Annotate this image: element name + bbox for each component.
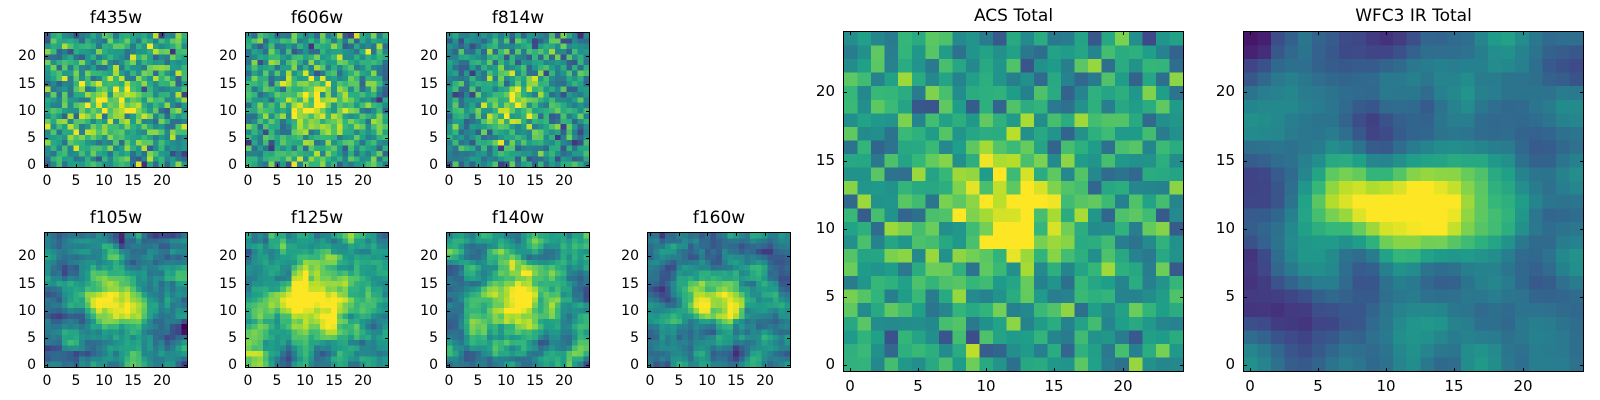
panel-wfc3-ir-total: WFC3 IR Total0510152005101520 xyxy=(1243,31,1584,372)
xtick-top-f105w-0 xyxy=(47,232,48,236)
xtick-top-f435w-2 xyxy=(104,32,105,36)
ytick-wfc3-ir-total-4 xyxy=(1243,92,1247,93)
xtick-f125w-2 xyxy=(305,364,306,368)
ytick-f125w-0 xyxy=(245,365,249,366)
xtick-f125w-4 xyxy=(363,364,364,368)
xticklabel-wfc3-ir-total-3: 15 xyxy=(1434,379,1474,394)
ytick-right-f814w-0 xyxy=(586,165,590,166)
heatmap-wfc3-ir-total xyxy=(1244,32,1583,371)
xticklabel-f125w-4: 20 xyxy=(343,374,383,388)
ytick-right-acs-total-0 xyxy=(1180,365,1184,366)
ytick-right-f140w-0 xyxy=(586,365,590,366)
yticklabel-f814w-4: 20 xyxy=(394,49,438,63)
ytick-right-f435w-2 xyxy=(184,111,188,112)
ytick-f814w-1 xyxy=(446,138,450,139)
xticklabel-f435w-4: 20 xyxy=(142,174,182,188)
xticklabel-acs-total-0: 0 xyxy=(830,379,870,394)
heatmap-f140w xyxy=(447,233,589,367)
axes-f125w xyxy=(245,232,389,368)
ytick-wfc3-ir-total-3 xyxy=(1243,161,1247,162)
axes-acs-total xyxy=(843,31,1184,372)
xticklabel-wfc3-ir-total-1: 5 xyxy=(1298,379,1338,394)
ytick-acs-total-1 xyxy=(843,297,847,298)
yticklabel-f105w-3: 15 xyxy=(0,277,36,291)
xticklabel-wfc3-ir-total-0: 0 xyxy=(1230,379,1270,394)
yticklabel-f606w-2: 10 xyxy=(193,104,237,118)
yticklabel-f125w-4: 20 xyxy=(193,249,237,263)
ytick-right-f125w-2 xyxy=(385,311,389,312)
ytick-f606w-1 xyxy=(245,138,249,139)
yticklabel-f140w-2: 10 xyxy=(394,304,438,318)
ytick-f105w-1 xyxy=(44,338,48,339)
yticklabel-f140w-4: 20 xyxy=(394,249,438,263)
xtick-top-f606w-2 xyxy=(305,32,306,36)
xtick-top-f435w-3 xyxy=(133,32,134,36)
ytick-right-f140w-2 xyxy=(586,311,590,312)
ytick-f160w-3 xyxy=(647,284,651,285)
yticklabel-f606w-0: 0 xyxy=(193,158,237,172)
xtick-wfc3-ir-total-0 xyxy=(1250,368,1251,372)
yticklabel-f125w-3: 15 xyxy=(193,277,237,291)
xtick-top-f105w-1 xyxy=(76,232,77,236)
xtick-acs-total-1 xyxy=(918,368,919,372)
xtick-top-f160w-0 xyxy=(650,232,651,236)
xticklabel-f105w-4: 20 xyxy=(142,374,182,388)
ytick-right-f160w-1 xyxy=(787,338,791,339)
xticklabel-f160w-4: 20 xyxy=(745,374,785,388)
heatmap-f435w xyxy=(45,33,187,167)
ytick-f125w-4 xyxy=(245,256,249,257)
xtick-top-f606w-1 xyxy=(277,32,278,36)
xtick-top-f814w-1 xyxy=(478,32,479,36)
ytick-right-f125w-0 xyxy=(385,365,389,366)
ytick-f606w-0 xyxy=(245,165,249,166)
heatmap-f814w xyxy=(447,33,589,167)
panel-f435w: f435w0510152005101520 xyxy=(44,32,188,168)
ytick-f160w-4 xyxy=(647,256,651,257)
xtick-top-acs-total-0 xyxy=(850,31,851,35)
yticklabel-wfc3-ir-total-0: 0 xyxy=(1191,357,1235,372)
panel-f140w: f140w0510152005101520 xyxy=(446,232,590,368)
xtick-wfc3-ir-total-4 xyxy=(1523,368,1524,372)
xtick-f140w-3 xyxy=(535,364,536,368)
xtick-f606w-1 xyxy=(277,164,278,168)
panel-title-f160w: f160w xyxy=(647,210,791,227)
xtick-f435w-4 xyxy=(162,164,163,168)
xtick-top-f606w-3 xyxy=(334,32,335,36)
axes-f160w xyxy=(647,232,791,368)
xtick-top-f140w-2 xyxy=(506,232,507,236)
yticklabel-f105w-0: 0 xyxy=(0,358,36,372)
xtick-f105w-3 xyxy=(133,364,134,368)
ytick-f814w-0 xyxy=(446,165,450,166)
panel-title-f814w: f814w xyxy=(446,10,590,27)
xtick-f140w-1 xyxy=(478,364,479,368)
ytick-wfc3-ir-total-2 xyxy=(1243,229,1247,230)
ytick-right-f125w-3 xyxy=(385,284,389,285)
xtick-top-f160w-3 xyxy=(736,232,737,236)
yticklabel-wfc3-ir-total-2: 10 xyxy=(1191,221,1235,236)
yticklabel-wfc3-ir-total-3: 15 xyxy=(1191,153,1235,168)
xtick-acs-total-0 xyxy=(850,368,851,372)
yticklabel-f160w-1: 5 xyxy=(595,331,639,345)
xtick-top-f125w-4 xyxy=(363,232,364,236)
xtick-top-f140w-3 xyxy=(535,232,536,236)
yticklabel-f105w-2: 10 xyxy=(0,304,36,318)
ytick-right-f606w-2 xyxy=(385,111,389,112)
ytick-right-f814w-3 xyxy=(586,84,590,85)
ytick-f435w-4 xyxy=(44,56,48,57)
xtick-f160w-4 xyxy=(765,364,766,368)
axes-wfc3-ir-total xyxy=(1243,31,1584,372)
ytick-right-f814w-2 xyxy=(586,111,590,112)
yticklabel-wfc3-ir-total-1: 5 xyxy=(1191,289,1235,304)
xticklabel-wfc3-ir-total-2: 10 xyxy=(1366,379,1406,394)
xtick-f105w-4 xyxy=(162,364,163,368)
ytick-acs-total-3 xyxy=(843,161,847,162)
ytick-f125w-3 xyxy=(245,284,249,285)
ytick-f105w-2 xyxy=(44,311,48,312)
xtick-f160w-3 xyxy=(736,364,737,368)
xtick-top-f140w-1 xyxy=(478,232,479,236)
xticklabel-acs-total-2: 10 xyxy=(966,379,1006,394)
yticklabel-f160w-0: 0 xyxy=(595,358,639,372)
ytick-right-f140w-1 xyxy=(586,338,590,339)
ytick-f606w-3 xyxy=(245,84,249,85)
xtick-top-acs-total-2 xyxy=(986,31,987,35)
ytick-right-f435w-1 xyxy=(184,138,188,139)
xtick-top-f160w-4 xyxy=(765,232,766,236)
ytick-right-f814w-1 xyxy=(586,138,590,139)
ytick-right-wfc3-ir-total-3 xyxy=(1580,161,1584,162)
ytick-right-f125w-4 xyxy=(385,256,389,257)
ytick-f105w-0 xyxy=(44,365,48,366)
ytick-right-f105w-0 xyxy=(184,365,188,366)
xtick-f140w-2 xyxy=(506,364,507,368)
xtick-acs-total-4 xyxy=(1123,368,1124,372)
yticklabel-f125w-1: 5 xyxy=(193,331,237,345)
xticklabel-acs-total-1: 5 xyxy=(898,379,938,394)
ytick-right-acs-total-3 xyxy=(1180,161,1184,162)
xtick-f435w-1 xyxy=(76,164,77,168)
yticklabel-f160w-4: 20 xyxy=(595,249,639,263)
heatmap-f125w xyxy=(246,233,388,367)
ytick-right-f105w-4 xyxy=(184,256,188,257)
yticklabel-f435w-3: 15 xyxy=(0,77,36,91)
xtick-top-f160w-2 xyxy=(707,232,708,236)
xtick-top-f125w-0 xyxy=(248,232,249,236)
xtick-top-f606w-0 xyxy=(248,32,249,36)
ytick-right-f105w-3 xyxy=(184,284,188,285)
xtick-top-wfc3-ir-total-2 xyxy=(1386,31,1387,35)
panel-title-f606w: f606w xyxy=(245,10,389,27)
xtick-f125w-3 xyxy=(334,364,335,368)
panel-f160w: f160w0510152005101520 xyxy=(647,232,791,368)
xtick-top-f105w-3 xyxy=(133,232,134,236)
xtick-wfc3-ir-total-3 xyxy=(1454,368,1455,372)
panel-acs-total: ACS Total0510152005101520 xyxy=(843,31,1184,372)
ytick-right-acs-total-2 xyxy=(1180,229,1184,230)
panel-title-wfc3-ir-total: WFC3 IR Total xyxy=(1243,8,1584,25)
heatmap-f160w xyxy=(648,233,790,367)
ytick-right-f606w-3 xyxy=(385,84,389,85)
xtick-f606w-4 xyxy=(363,164,364,168)
xtick-top-f160w-1 xyxy=(679,232,680,236)
panel-title-f435w: f435w xyxy=(44,10,188,27)
ytick-right-f160w-3 xyxy=(787,284,791,285)
ytick-f140w-3 xyxy=(446,284,450,285)
panel-title-f140w: f140w xyxy=(446,210,590,227)
xtick-top-f140w-4 xyxy=(564,232,565,236)
xtick-top-f125w-2 xyxy=(305,232,306,236)
ytick-f140w-4 xyxy=(446,256,450,257)
xticklabel-f606w-4: 20 xyxy=(343,174,383,188)
xtick-f125w-1 xyxy=(277,364,278,368)
yticklabel-f606w-3: 15 xyxy=(193,77,237,91)
ytick-right-f105w-2 xyxy=(184,311,188,312)
xtick-top-f125w-3 xyxy=(334,232,335,236)
heatmap-f105w xyxy=(45,233,187,367)
xtick-top-f814w-0 xyxy=(449,32,450,36)
xtick-wfc3-ir-total-2 xyxy=(1386,368,1387,372)
xtick-top-wfc3-ir-total-4 xyxy=(1523,31,1524,35)
xtick-wfc3-ir-total-1 xyxy=(1318,368,1319,372)
ytick-right-wfc3-ir-total-1 xyxy=(1580,297,1584,298)
ytick-right-f105w-1 xyxy=(184,338,188,339)
ytick-right-f606w-4 xyxy=(385,56,389,57)
xticklabel-f814w-4: 20 xyxy=(544,174,584,188)
yticklabel-f435w-2: 10 xyxy=(0,104,36,118)
ytick-f606w-2 xyxy=(245,111,249,112)
xtick-top-f814w-3 xyxy=(535,32,536,36)
ytick-f140w-2 xyxy=(446,311,450,312)
ytick-f814w-4 xyxy=(446,56,450,57)
ytick-f105w-3 xyxy=(44,284,48,285)
yticklabel-wfc3-ir-total-4: 20 xyxy=(1191,84,1235,99)
xtick-f105w-2 xyxy=(104,364,105,368)
ytick-f814w-2 xyxy=(446,111,450,112)
xtick-f160w-1 xyxy=(679,364,680,368)
ytick-right-f160w-4 xyxy=(787,256,791,257)
yticklabel-f140w-1: 5 xyxy=(394,331,438,345)
axes-f140w xyxy=(446,232,590,368)
panel-f606w: f606w0510152005101520 xyxy=(245,32,389,168)
xtick-f814w-2 xyxy=(506,164,507,168)
axes-f105w xyxy=(44,232,188,368)
xtick-acs-total-2 xyxy=(986,368,987,372)
yticklabel-f606w-1: 5 xyxy=(193,131,237,145)
ytick-acs-total-0 xyxy=(843,365,847,366)
ytick-f606w-4 xyxy=(245,56,249,57)
yticklabel-f435w-1: 5 xyxy=(0,131,36,145)
panel-title-f125w: f125w xyxy=(245,210,389,227)
ytick-f435w-0 xyxy=(44,165,48,166)
xtick-acs-total-3 xyxy=(1054,368,1055,372)
xtick-top-f606w-4 xyxy=(363,32,364,36)
xtick-f814w-1 xyxy=(478,164,479,168)
xtick-top-acs-total-4 xyxy=(1123,31,1124,35)
xtick-f435w-3 xyxy=(133,164,134,168)
xtick-f814w-3 xyxy=(535,164,536,168)
yticklabel-f814w-0: 0 xyxy=(394,158,438,172)
ytick-right-wfc3-ir-total-4 xyxy=(1580,92,1584,93)
panel-f105w: f105w0510152005101520 xyxy=(44,232,188,368)
axes-f606w xyxy=(245,32,389,168)
figure-canvas: f435w0510152005101520f606w05101520051015… xyxy=(0,0,1600,400)
yticklabel-f606w-4: 20 xyxy=(193,49,237,63)
ytick-right-f606w-1 xyxy=(385,138,389,139)
ytick-right-acs-total-4 xyxy=(1180,92,1184,93)
xtick-top-f125w-1 xyxy=(277,232,278,236)
xticklabel-acs-total-3: 15 xyxy=(1034,379,1074,394)
ytick-f160w-1 xyxy=(647,338,651,339)
xtick-f105w-1 xyxy=(76,364,77,368)
ytick-acs-total-4 xyxy=(843,92,847,93)
yticklabel-f160w-2: 10 xyxy=(595,304,639,318)
ytick-right-f435w-4 xyxy=(184,56,188,57)
xtick-f140w-4 xyxy=(564,364,565,368)
yticklabel-f435w-4: 20 xyxy=(0,49,36,63)
ytick-f814w-3 xyxy=(446,84,450,85)
xtick-top-f435w-4 xyxy=(162,32,163,36)
yticklabel-f140w-0: 0 xyxy=(394,358,438,372)
ytick-right-f606w-0 xyxy=(385,165,389,166)
xtick-top-f435w-1 xyxy=(76,32,77,36)
ytick-f160w-0 xyxy=(647,365,651,366)
ytick-right-f435w-3 xyxy=(184,84,188,85)
yticklabel-f814w-3: 15 xyxy=(394,77,438,91)
ytick-wfc3-ir-total-0 xyxy=(1243,365,1247,366)
xtick-f435w-2 xyxy=(104,164,105,168)
xtick-top-f814w-4 xyxy=(564,32,565,36)
ytick-f125w-1 xyxy=(245,338,249,339)
axes-f814w xyxy=(446,32,590,168)
yticklabel-f814w-2: 10 xyxy=(394,104,438,118)
yticklabel-f105w-4: 20 xyxy=(0,249,36,263)
panel-title-acs-total: ACS Total xyxy=(843,8,1184,25)
ytick-right-f435w-0 xyxy=(184,165,188,166)
xtick-top-wfc3-ir-total-3 xyxy=(1454,31,1455,35)
ytick-right-wfc3-ir-total-0 xyxy=(1580,365,1584,366)
ytick-right-f160w-2 xyxy=(787,311,791,312)
xticklabel-acs-total-4: 20 xyxy=(1103,379,1143,394)
panel-f814w: f814w0510152005101520 xyxy=(446,32,590,168)
ytick-f435w-3 xyxy=(44,84,48,85)
panel-f125w: f125w0510152005101520 xyxy=(245,232,389,368)
yticklabel-f140w-3: 15 xyxy=(394,277,438,291)
yticklabel-acs-total-4: 20 xyxy=(791,84,835,99)
ytick-f105w-4 xyxy=(44,256,48,257)
xtick-top-f105w-4 xyxy=(162,232,163,236)
yticklabel-f125w-2: 10 xyxy=(193,304,237,318)
xtick-top-acs-total-1 xyxy=(918,31,919,35)
yticklabel-acs-total-0: 0 xyxy=(791,357,835,372)
xtick-f160w-2 xyxy=(707,364,708,368)
ytick-f140w-1 xyxy=(446,338,450,339)
ytick-f435w-2 xyxy=(44,111,48,112)
ytick-right-acs-total-1 xyxy=(1180,297,1184,298)
ytick-right-f814w-4 xyxy=(586,56,590,57)
xtick-top-f140w-0 xyxy=(449,232,450,236)
ytick-right-f140w-4 xyxy=(586,256,590,257)
xtick-top-f435w-0 xyxy=(47,32,48,36)
heatmap-acs-total xyxy=(844,32,1183,371)
ytick-right-f140w-3 xyxy=(586,284,590,285)
ytick-f160w-2 xyxy=(647,311,651,312)
axes-f435w xyxy=(44,32,188,168)
yticklabel-acs-total-2: 10 xyxy=(791,221,835,236)
heatmap-f606w xyxy=(246,33,388,167)
xtick-top-f105w-2 xyxy=(104,232,105,236)
ytick-wfc3-ir-total-1 xyxy=(1243,297,1247,298)
xtick-f606w-2 xyxy=(305,164,306,168)
yticklabel-f160w-3: 15 xyxy=(595,277,639,291)
panel-title-f105w: f105w xyxy=(44,210,188,227)
yticklabel-f814w-1: 5 xyxy=(394,131,438,145)
xtick-top-wfc3-ir-total-0 xyxy=(1250,31,1251,35)
ytick-right-f125w-1 xyxy=(385,338,389,339)
xtick-top-wfc3-ir-total-1 xyxy=(1318,31,1319,35)
xticklabel-f140w-4: 20 xyxy=(544,374,584,388)
xtick-f606w-3 xyxy=(334,164,335,168)
yticklabel-acs-total-3: 15 xyxy=(791,153,835,168)
ytick-f125w-2 xyxy=(245,311,249,312)
yticklabel-f105w-1: 5 xyxy=(0,331,36,345)
xtick-f814w-4 xyxy=(564,164,565,168)
ytick-f435w-1 xyxy=(44,138,48,139)
yticklabel-acs-total-1: 5 xyxy=(791,289,835,304)
xtick-top-f814w-2 xyxy=(506,32,507,36)
ytick-f140w-0 xyxy=(446,365,450,366)
ytick-acs-total-2 xyxy=(843,229,847,230)
yticklabel-f125w-0: 0 xyxy=(193,358,237,372)
xtick-top-acs-total-3 xyxy=(1054,31,1055,35)
xticklabel-wfc3-ir-total-4: 20 xyxy=(1503,379,1543,394)
ytick-right-wfc3-ir-total-2 xyxy=(1580,229,1584,230)
yticklabel-f435w-0: 0 xyxy=(0,158,36,172)
